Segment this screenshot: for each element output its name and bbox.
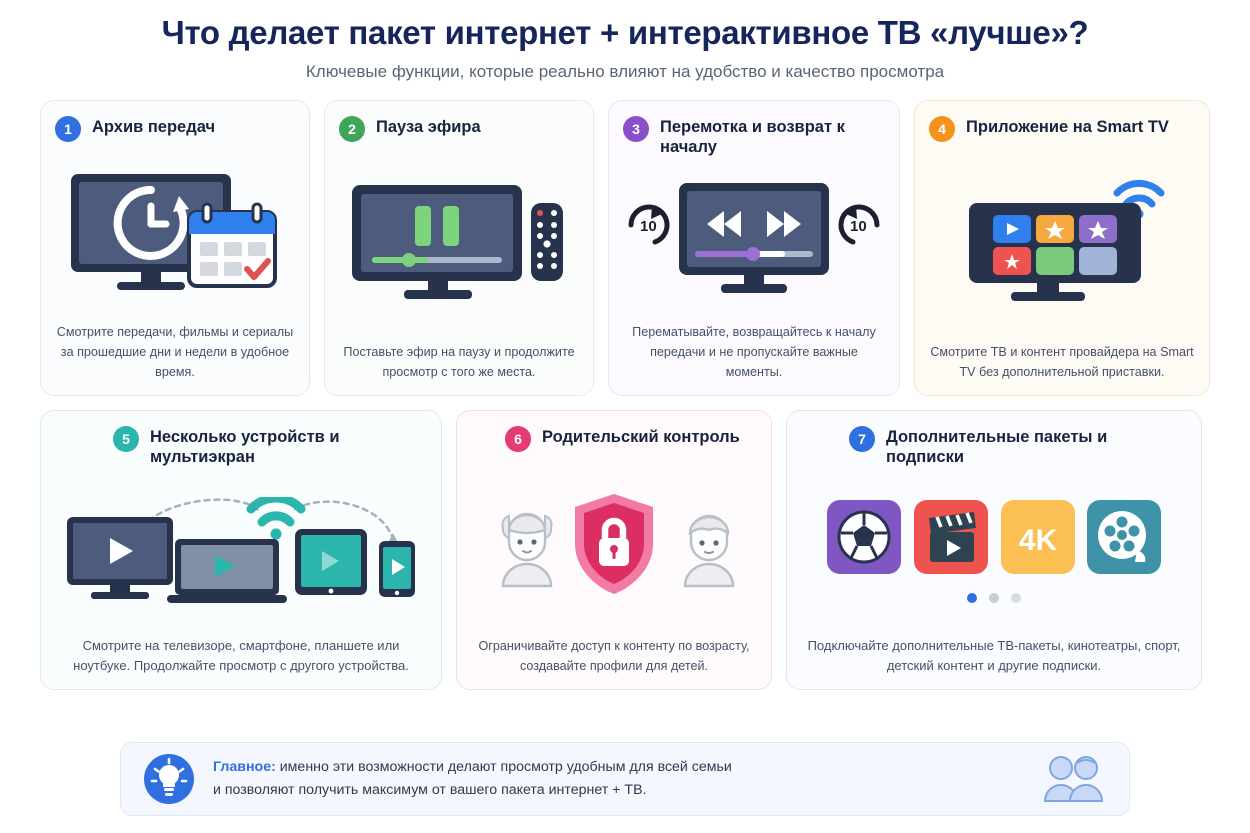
card-caption: Смотрите ТВ и контент провайдера на Smar… [929,343,1195,383]
summary-banner: Главное: именно эти возможности делают п… [120,742,1130,816]
infographic-page: Что делает пакет интернет + интерактивно… [0,0,1250,833]
card-title: Несколько устройств и мультиэкран [150,425,427,467]
card-parental-control[interactable]: 6 Родительский контроль [456,410,772,690]
card-caption: Поставьте эфир на паузу и продолжите про… [339,343,579,383]
card-title: Родительский контроль [542,425,740,447]
tv-pause-remote-icon [339,142,579,343]
tv-rewind-forward-icon: 10 10 [623,157,885,323]
card-title: Приложение на Smart TV [966,115,1169,137]
card-caption: Смотрите на телевизоре, смартфоне, планш… [55,636,427,677]
card-caption: Ограничивайте доступ к контенту по возра… [471,637,757,677]
pagination-dots [954,592,1034,604]
card-caption: Подключайте дополнительные ТВ-пакеты, ки… [801,636,1187,677]
card-multiscreen[interactable]: 5 Несколько устройств и мультиэкран [40,410,442,690]
svg-text:10: 10 [850,218,867,235]
svg-text:10: 10 [640,218,657,235]
card-header: 7 Дополнительные пакеты и подписки [801,425,1187,467]
header: Что делает пакет интернет + интерактивно… [40,0,1210,82]
lightbulb-icon [143,753,195,805]
card-header: 5 Несколько устройств и мультиэкран [55,425,427,467]
card-caption: Смотрите передачи, фильмы и сериалы за п… [55,323,295,383]
page-subtitle: Ключевые функции, которые реально влияют… [40,62,1210,82]
card-number-badge: 6 [505,426,531,452]
cards-row-2: 5 Несколько устройств и мультиэкран [40,410,1210,690]
tile-label: 4K [1019,524,1058,557]
card-header: 1 Архив передач [55,115,295,142]
card-archive[interactable]: 1 Архив передач [40,100,310,396]
card-subscriptions[interactable]: 7 Дополнительные пакеты и подписки 4K [786,410,1202,690]
card-number-badge: 1 [55,116,81,142]
tv-clock-calendar-icon [55,142,295,323]
card-header: 6 Родительский контроль [471,425,757,452]
wifi-icon [251,498,301,539]
card-number-badge: 2 [339,116,365,142]
multi-device-wifi-icon [55,467,427,636]
card-number-badge: 5 [113,426,139,452]
boy-avatar-icon [685,516,733,586]
card-title: Пауза эфира [376,115,481,137]
card-pause[interactable]: 2 Пауза эфира [324,100,594,396]
card-rewind[interactable]: 3 Перемотка и возврат к началу [608,100,900,396]
banner-line-1: именно эти возможности делают просмотр у… [276,759,732,775]
card-title: Перемотка и возврат к началу [660,115,885,157]
card-title: Дополнительные пакеты и подписки [886,425,1187,467]
card-number-badge: 7 [849,426,875,452]
card-number-badge: 3 [623,116,649,142]
smart-tv-apps-wifi-icon [929,142,1195,343]
two-people-icon [1041,755,1107,803]
shield-lock-icon [575,494,653,594]
cards-row-1: 1 Архив передач [40,100,1210,396]
card-header: 4 Приложение на Smart TV [929,115,1195,142]
card-smart-tv[interactable]: 4 Приложение на Smart TV [914,100,1210,396]
subscription-tiles-icon: 4K [801,467,1187,636]
banner-text: Главное: именно эти возможности делают п… [213,756,1023,803]
girl-avatar-icon [502,514,551,586]
banner-line-2: и позволяют получить максимум от вашего … [213,779,1023,802]
card-header: 3 Перемотка и возврат к началу [623,115,885,157]
card-header: 2 Пауза эфира [339,115,579,142]
card-caption: Перематывайте, возвращайтесь к началу пе… [623,323,885,383]
card-number-badge: 4 [929,116,955,142]
banner-lead: Главное: [213,759,276,775]
shield-lock-kids-icon [471,452,757,637]
page-title: Что делает пакет интернет + интерактивно… [40,14,1210,52]
card-title: Архив передач [92,115,215,137]
